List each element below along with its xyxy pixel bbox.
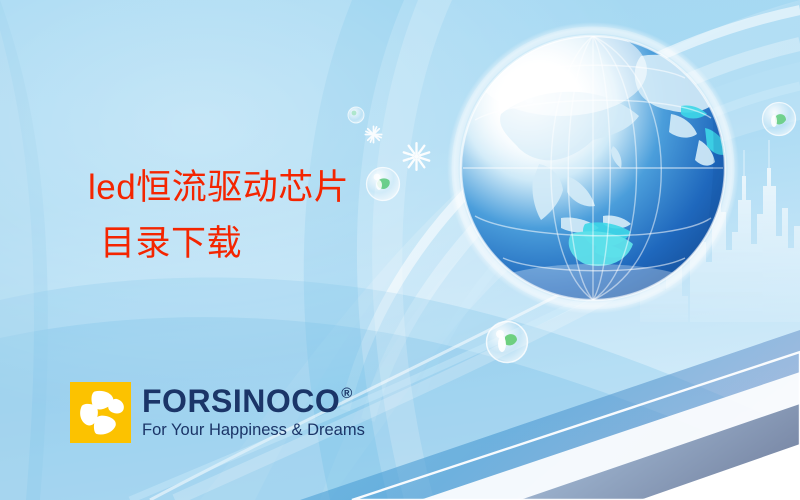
pinwheel-flower-mark-icon — [70, 382, 131, 443]
page-title: led恒流驱动芯片 目录下载 — [88, 160, 418, 272]
page-title-line-2: 目录下载 — [88, 216, 418, 272]
led-catalog-banner: led恒流驱动芯片 目录下载 FORSINOCO ® — [0, 0, 800, 500]
registered-trademark-symbol: ® — [341, 386, 353, 401]
logo-tagline: For Your Happiness & Dreams — [142, 421, 365, 439]
bubble-small-top — [347, 106, 365, 124]
bubble-right-edge — [761, 101, 797, 137]
earth-globe-illustration — [443, 18, 743, 318]
logo-wordmark: FORSINOCO ® — [142, 385, 365, 417]
sparkle-small — [364, 125, 383, 144]
company-logo: FORSINOCO ® For Your Happiness & Dreams — [70, 382, 365, 443]
bubble-mid — [485, 320, 529, 364]
page-title-line-1: led恒流驱动芯片 — [88, 160, 418, 216]
logo-text-block: FORSINOCO ® For Your Happiness & Dreams — [142, 382, 365, 439]
logo-wordmark-text: FORSINOCO — [142, 385, 340, 417]
